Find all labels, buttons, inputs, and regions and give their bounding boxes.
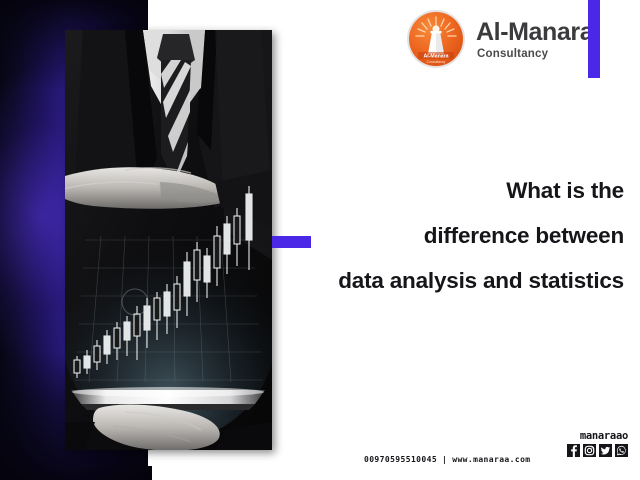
headline-line-1: What is the bbox=[290, 178, 626, 204]
social-icon-row bbox=[567, 444, 628, 457]
footer-contact-line: 00970595510045|www.manaraa.com bbox=[364, 455, 531, 464]
headline-line-2: difference between bbox=[290, 223, 626, 249]
footer-separator: | bbox=[437, 455, 452, 464]
logo-badge-tagline: Consultancy bbox=[427, 60, 446, 64]
headline-line-3: data analysis and statistics bbox=[290, 268, 626, 294]
brand-tagline: Consultancy bbox=[477, 49, 593, 61]
hero-photo bbox=[65, 30, 272, 450]
social-handle: manaraao bbox=[580, 430, 628, 442]
lighthouse-sun-badge-icon: Al-Manara Consultancy bbox=[405, 8, 467, 70]
accent-bar-vertical bbox=[588, 0, 600, 78]
brand-logo-block[interactable]: Al-Manara Consultancy Al-Manara Consulta… bbox=[405, 8, 593, 70]
hero-photo-illustration bbox=[65, 30, 272, 450]
phone-number[interactable]: 00970595510045 bbox=[364, 455, 437, 464]
brand-name: Al-Manara bbox=[476, 20, 593, 45]
brand-wordmark: Al-Manara Consultancy bbox=[476, 18, 593, 61]
whatsapp-icon[interactable] bbox=[615, 444, 628, 457]
website-url[interactable]: www.manaraa.com bbox=[452, 455, 530, 464]
logo-badge-name: Al-Manara bbox=[423, 54, 448, 60]
headline: What is the difference between data anal… bbox=[290, 178, 626, 294]
instagram-icon[interactable] bbox=[583, 444, 596, 457]
twitter-icon[interactable] bbox=[599, 444, 612, 457]
social-post-canvas: Al-Manara Consultancy Al-Manara Consulta… bbox=[0, 0, 640, 480]
footer: 00970595510045|www.manaraa.com manaraao bbox=[364, 430, 628, 466]
social-block: manaraao bbox=[567, 430, 628, 457]
facebook-icon[interactable] bbox=[567, 444, 580, 457]
